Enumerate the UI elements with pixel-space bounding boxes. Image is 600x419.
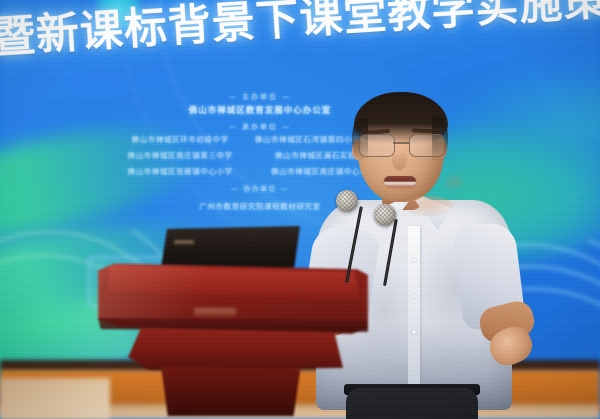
photograph: — 主办单位 — 佛山市禅城区教育发展中心办公室 — 承办单位 — 佛山市禅城区… <box>0 0 600 419</box>
mic-windscreen <box>374 204 396 226</box>
banner-title: 暨新课标背景下课堂教学实施策略研讨活动 <box>0 0 600 66</box>
laptop-logo <box>174 240 194 244</box>
podium-base <box>144 366 314 416</box>
glasses-bridge <box>393 142 409 144</box>
mouth-speaking <box>384 176 416 187</box>
shirt-placket <box>408 226 420 406</box>
cohost-school: 佛山市禅城区环市初级中学 <box>127 134 232 145</box>
podium-badge <box>194 308 236 317</box>
shirt-button <box>412 294 416 298</box>
podium-column <box>128 328 343 370</box>
stage-floor-left <box>0 378 110 419</box>
shirt-button <box>412 330 416 334</box>
nose <box>392 150 407 170</box>
cohost-column-left: 佛山市禅城区环市初级中学 佛山市禅城区南庄镇第三中学 佛山市禅城区张槎镇中心小学 <box>127 134 232 177</box>
glasses-lens-right <box>409 134 445 157</box>
mic-windscreen <box>336 190 358 212</box>
chin <box>404 196 454 216</box>
glasses-lens-left <box>359 134 395 157</box>
shirt-button <box>412 258 416 262</box>
banner-title-wrap: 暨新课标背景下课堂教学实施策略研讨活动 <box>0 0 600 74</box>
cheek <box>444 174 464 190</box>
podium <box>98 262 368 419</box>
cohost-school: 佛山市禅城区南庄镇第三中学 <box>127 150 232 161</box>
banner-title-clip: 暨新课标背景下课堂教学实施策略研讨活动 <box>0 0 600 80</box>
cohost-school: 佛山市禅城区张槎镇中心小学 <box>127 166 232 177</box>
